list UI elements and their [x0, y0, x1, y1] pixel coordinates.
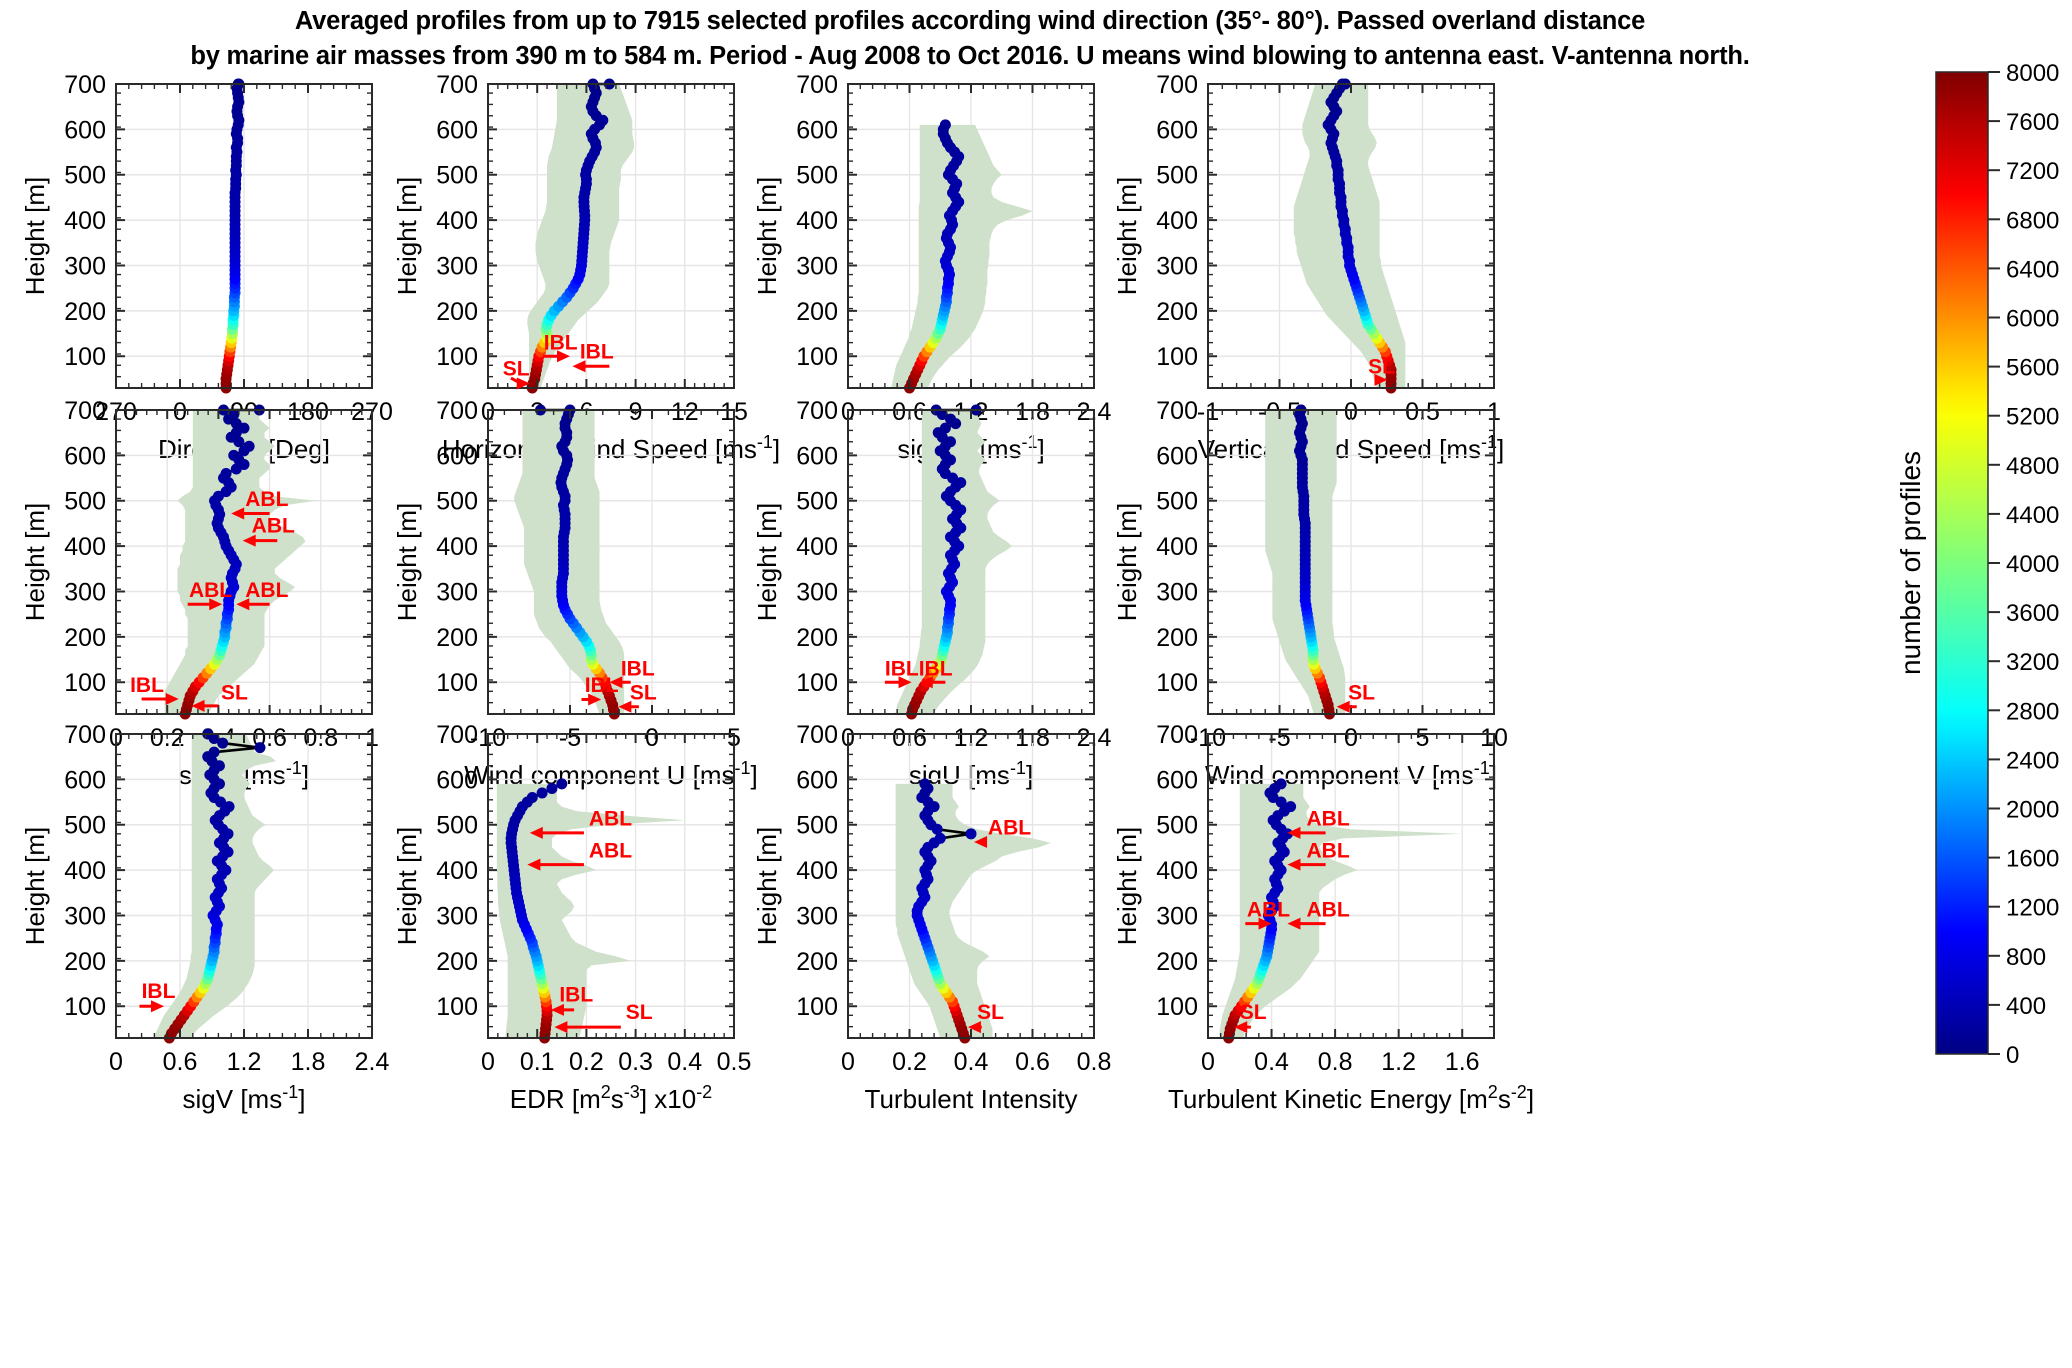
svg-text:500: 500 — [64, 812, 106, 840]
annotation-label: SL — [1348, 681, 1375, 704]
svg-text:600: 600 — [64, 442, 106, 470]
svg-text:400: 400 — [796, 857, 838, 885]
title-line-1: Averaged profiles from up to 7915 select… — [295, 7, 1645, 35]
svg-text:400: 400 — [1156, 207, 1198, 235]
svg-text:200: 200 — [796, 624, 838, 652]
annotation-label: ABL — [1247, 898, 1290, 921]
figure-root: Averaged profiles from up to 7915 select… — [0, 0, 2072, 1368]
svg-text:0.5: 0.5 — [717, 1048, 752, 1076]
svg-text:700: 700 — [436, 721, 478, 749]
svg-text:0.4: 0.4 — [1254, 1048, 1289, 1076]
annotation-label: ABL — [1307, 898, 1350, 921]
svg-text:0.8: 0.8 — [1077, 1048, 1112, 1076]
annotation-label: ABL — [245, 488, 288, 511]
svg-text:600: 600 — [1156, 116, 1198, 144]
annotation-label: SL — [630, 681, 657, 704]
svg-text:5200: 5200 — [2006, 404, 2059, 431]
svg-text:500: 500 — [796, 488, 838, 516]
svg-text:500: 500 — [1156, 488, 1198, 516]
svg-text:500: 500 — [1156, 812, 1198, 840]
annotation-label: SL — [221, 681, 248, 704]
svg-text:300: 300 — [1156, 902, 1198, 930]
x-axis-label: Turbulent Intensity — [865, 1084, 1078, 1114]
svg-text:400: 400 — [796, 533, 838, 561]
svg-text:5600: 5600 — [2006, 355, 2059, 382]
annotation-label: IBL — [580, 341, 614, 364]
svg-text:Height [m]: Height [m] — [1112, 503, 1142, 622]
svg-text:400: 400 — [64, 857, 106, 885]
svg-text:200: 200 — [64, 624, 106, 652]
svg-text:500: 500 — [436, 162, 478, 190]
svg-text:500: 500 — [64, 162, 106, 190]
annotation-label: IBL — [142, 980, 176, 1003]
svg-text:500: 500 — [436, 812, 478, 840]
annotation-label: SL — [503, 357, 530, 380]
svg-text:300: 300 — [1156, 578, 1198, 606]
svg-text:1600: 1600 — [2006, 846, 2059, 873]
svg-text:600: 600 — [436, 766, 478, 794]
svg-text:1.8: 1.8 — [291, 1048, 326, 1076]
svg-text:6000: 6000 — [2006, 306, 2059, 333]
subplot-tke: 100200300400500600700Height [m]00.40.81.… — [1112, 712, 1512, 1158]
x-axis-label: sigV [ms-1] — [183, 1082, 306, 1114]
svg-text:300: 300 — [436, 902, 478, 930]
svg-text:500: 500 — [436, 488, 478, 516]
x-axis: 00.40.81.21.6Turbulent Kinetic Energy [m… — [1168, 734, 1534, 1114]
annotation-label: IBL — [885, 657, 919, 680]
svg-text:Height [m]: Height [m] — [392, 827, 422, 946]
svg-text:1.2: 1.2 — [1381, 1048, 1416, 1076]
svg-text:1200: 1200 — [2006, 895, 2059, 922]
svg-text:600: 600 — [796, 766, 838, 794]
svg-text:300: 300 — [1156, 252, 1198, 280]
colorbar-gradient — [1936, 72, 1988, 1054]
svg-text:0: 0 — [481, 1048, 495, 1076]
svg-text:100: 100 — [436, 343, 478, 371]
subplot-ti: 100200300400500600700Height [m]00.20.40.… — [752, 712, 1112, 1158]
svg-text:100: 100 — [436, 993, 478, 1021]
svg-text:700: 700 — [1156, 721, 1198, 749]
svg-text:700: 700 — [796, 397, 838, 425]
svg-text:200: 200 — [1156, 624, 1198, 652]
svg-text:100: 100 — [796, 993, 838, 1021]
svg-text:700: 700 — [436, 397, 478, 425]
colorbar-label: number of profiles — [1895, 451, 1926, 675]
annotation-label: IBL — [559, 984, 593, 1007]
svg-text:400: 400 — [436, 207, 478, 235]
annotation-label: IBL — [130, 674, 164, 697]
svg-text:0.1: 0.1 — [520, 1048, 555, 1076]
svg-text:0.4: 0.4 — [954, 1048, 989, 1076]
svg-text:200: 200 — [1156, 948, 1198, 976]
svg-text:1.2: 1.2 — [227, 1048, 262, 1076]
svg-text:0.3: 0.3 — [618, 1048, 653, 1076]
svg-text:100: 100 — [796, 343, 838, 371]
svg-text:Height [m]: Height [m] — [20, 827, 50, 946]
svg-text:700: 700 — [1156, 71, 1198, 99]
svg-text:100: 100 — [1156, 343, 1198, 371]
svg-text:100: 100 — [436, 669, 478, 697]
svg-text:Height [m]: Height [m] — [752, 827, 782, 946]
svg-text:200: 200 — [436, 624, 478, 652]
svg-text:400: 400 — [2006, 993, 2046, 1020]
svg-text:0.6: 0.6 — [1015, 1048, 1050, 1076]
svg-text:600: 600 — [436, 116, 478, 144]
svg-text:6800: 6800 — [2006, 207, 2059, 234]
svg-text:4400: 4400 — [2006, 502, 2059, 529]
svg-text:300: 300 — [436, 252, 478, 280]
svg-text:0.2: 0.2 — [892, 1048, 927, 1076]
svg-text:300: 300 — [436, 578, 478, 606]
svg-text:Height [m]: Height [m] — [392, 503, 422, 622]
svg-text:0: 0 — [841, 1048, 855, 1076]
svg-text:300: 300 — [64, 902, 106, 930]
svg-text:300: 300 — [796, 252, 838, 280]
svg-text:0.4: 0.4 — [667, 1048, 702, 1076]
svg-text:8000: 8000 — [2006, 60, 2059, 87]
svg-text:300: 300 — [796, 902, 838, 930]
svg-text:Height [m]: Height [m] — [392, 177, 422, 296]
svg-text:2.4: 2.4 — [355, 1048, 390, 1076]
svg-text:4000: 4000 — [2006, 551, 2059, 578]
svg-text:400: 400 — [436, 857, 478, 885]
svg-text:2400: 2400 — [2006, 747, 2059, 774]
annotation-label: ABL — [988, 817, 1031, 840]
svg-text:200: 200 — [436, 948, 478, 976]
svg-text:0: 0 — [1201, 1048, 1215, 1076]
svg-text:7600: 7600 — [2006, 109, 2059, 136]
svg-text:400: 400 — [436, 533, 478, 561]
svg-text:0: 0 — [109, 1048, 123, 1076]
grid-lines — [1208, 410, 1494, 714]
svg-text:4800: 4800 — [2006, 453, 2059, 480]
svg-text:3600: 3600 — [2006, 600, 2059, 627]
svg-text:6400: 6400 — [2006, 256, 2059, 283]
svg-text:Height [m]: Height [m] — [20, 503, 50, 622]
svg-text:7200: 7200 — [2006, 158, 2059, 185]
svg-text:Height [m]: Height [m] — [20, 177, 50, 296]
svg-text:400: 400 — [1156, 533, 1198, 561]
svg-text:Height [m]: Height [m] — [1112, 827, 1142, 946]
svg-text:500: 500 — [64, 488, 106, 516]
svg-text:1.6: 1.6 — [1445, 1048, 1480, 1076]
svg-text:400: 400 — [796, 207, 838, 235]
svg-text:400: 400 — [64, 207, 106, 235]
annotation-label: ABL — [252, 515, 295, 538]
svg-text:2000: 2000 — [2006, 797, 2059, 824]
svg-text:200: 200 — [64, 948, 106, 976]
svg-text:700: 700 — [796, 71, 838, 99]
annotation-label: IBL — [621, 657, 655, 680]
svg-text:600: 600 — [1156, 442, 1198, 470]
svg-text:600: 600 — [796, 116, 838, 144]
svg-text:100: 100 — [64, 669, 106, 697]
colorbar: 0400800120016002000240028003200360040004… — [1922, 58, 2072, 1068]
subplot-sigv: 100200300400500600700Height [m]00.61.21.… — [20, 712, 390, 1158]
spread-band — [891, 125, 1032, 388]
svg-text:0.6: 0.6 — [163, 1048, 198, 1076]
annotation-label: ABL — [589, 808, 632, 831]
svg-text:0.2: 0.2 — [569, 1048, 604, 1076]
annotations: SLIBLIBL — [503, 331, 614, 389]
svg-text:200: 200 — [64, 298, 106, 326]
svg-text:200: 200 — [796, 298, 838, 326]
svg-text:2800: 2800 — [2006, 698, 2059, 725]
svg-text:600: 600 — [796, 442, 838, 470]
svg-text:600: 600 — [436, 442, 478, 470]
svg-text:500: 500 — [796, 162, 838, 190]
svg-text:300: 300 — [64, 578, 106, 606]
svg-text:500: 500 — [1156, 162, 1198, 190]
x-axis-label: EDR [m2s-3] x10-2 — [510, 1082, 712, 1114]
svg-text:600: 600 — [64, 116, 106, 144]
svg-text:600: 600 — [64, 766, 106, 794]
svg-text:700: 700 — [1156, 397, 1198, 425]
annotation-label: SL — [977, 1001, 1004, 1024]
annotation-label: IBL — [585, 674, 619, 697]
annotation-label: ABL — [1307, 839, 1350, 862]
svg-text:0: 0 — [2006, 1042, 2019, 1069]
grid-lines — [116, 84, 372, 388]
svg-text:700: 700 — [436, 71, 478, 99]
svg-text:0.8: 0.8 — [1318, 1048, 1353, 1076]
svg-text:400: 400 — [1156, 857, 1198, 885]
y-axis: 100200300400500600700Height [m] — [20, 71, 372, 388]
annotation-label: IBL — [544, 331, 578, 354]
x-axis-label: Turbulent Kinetic Energy [m2s-2] — [1168, 1082, 1534, 1114]
svg-text:100: 100 — [1156, 993, 1198, 1021]
svg-text:400: 400 — [64, 533, 106, 561]
svg-text:300: 300 — [796, 578, 838, 606]
svg-text:700: 700 — [796, 721, 838, 749]
svg-text:Height [m]: Height [m] — [752, 503, 782, 622]
svg-text:200: 200 — [436, 298, 478, 326]
annotation-label: SL — [626, 1001, 653, 1024]
svg-text:100: 100 — [64, 993, 106, 1021]
annotation-label: SL — [1240, 1001, 1267, 1024]
svg-text:600: 600 — [1156, 766, 1198, 794]
svg-text:3200: 3200 — [2006, 649, 2059, 676]
annotation-label: SL — [1368, 355, 1395, 378]
svg-text:Height [m]: Height [m] — [1112, 177, 1142, 296]
subplot-edr: 100200300400500600700Height [m]00.10.20.… — [392, 712, 752, 1158]
profile-markers — [221, 79, 244, 393]
svg-text:500: 500 — [796, 812, 838, 840]
svg-text:100: 100 — [64, 343, 106, 371]
annotation-label: ABL — [245, 579, 288, 602]
svg-text:Height [m]: Height [m] — [752, 177, 782, 296]
x-axis: 00.20.40.60.8Turbulent Intensity — [841, 734, 1111, 1114]
annotation-label: ABL — [189, 579, 232, 602]
svg-text:700: 700 — [64, 71, 106, 99]
svg-text:300: 300 — [64, 252, 106, 280]
svg-text:700: 700 — [64, 397, 106, 425]
svg-text:100: 100 — [1156, 669, 1198, 697]
svg-text:800: 800 — [2006, 944, 2046, 971]
annotation-label: ABL — [1307, 808, 1350, 831]
svg-text:100: 100 — [796, 669, 838, 697]
svg-text:200: 200 — [1156, 298, 1198, 326]
svg-text:200: 200 — [796, 948, 838, 976]
annotation-label: IBL — [919, 657, 953, 680]
svg-text:700: 700 — [64, 721, 106, 749]
annotation-label: ABL — [589, 839, 632, 862]
